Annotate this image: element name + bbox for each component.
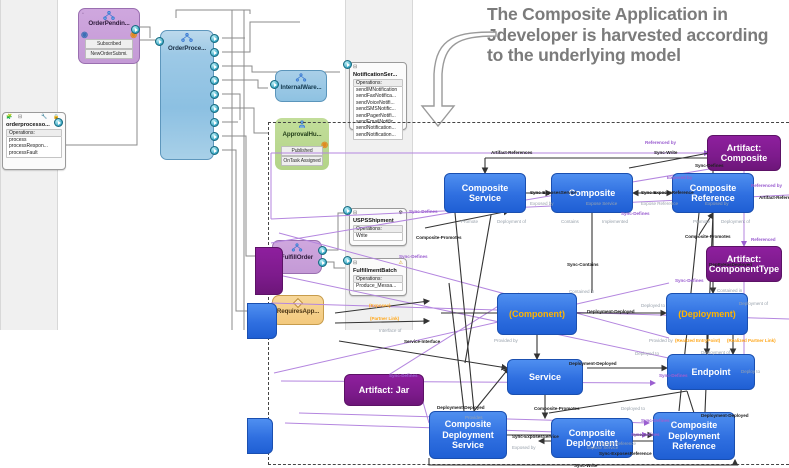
edge-label: Artifact-References xyxy=(491,150,532,155)
edge-label: Sync-Write xyxy=(654,150,677,155)
edge-label: Promote xyxy=(461,219,478,224)
operations-list: process processRespon... processFault xyxy=(6,137,62,158)
edge-label: Expose Reference xyxy=(599,441,636,446)
model-node-clipped-blue-2[interactable] xyxy=(247,418,273,454)
screenshot-root: 🧩 ⊟ 🔧 🔒 orderprocesso... Operations: pro… xyxy=(0,0,789,465)
node-label: Composite Deployment Reference xyxy=(656,420,732,452)
edge-label: Provided by xyxy=(494,338,518,343)
edge-label: Sync-Defines xyxy=(621,211,650,216)
node-internalwarehouse[interactable]: InternalWare... xyxy=(275,70,327,102)
port-op-5[interactable] xyxy=(210,90,219,99)
edge-label: Expose Service xyxy=(586,201,617,206)
node-label: Composite Service xyxy=(447,183,523,204)
port-op-7[interactable] xyxy=(210,118,219,127)
edge-label: Sync-Defines xyxy=(631,432,660,437)
node-label: Endpoint xyxy=(692,367,731,378)
port-op-3[interactable] xyxy=(210,62,219,71)
model-node-deployment[interactable]: (Deployment) xyxy=(666,293,748,335)
node-label: (Deployment) xyxy=(678,309,736,320)
wrench-icon: 🔧 xyxy=(41,114,47,120)
service-title: NotificationSer... xyxy=(350,71,406,78)
edge-label: Provides xyxy=(465,415,482,420)
edge-label: Composite-Promotes xyxy=(416,235,462,240)
edge-label: Contains xyxy=(561,219,579,224)
port-notificationservice-in[interactable] xyxy=(343,60,352,69)
badge-newordersubmitted: NewOrderSubmi. xyxy=(85,49,133,59)
sync-icon: ◉ xyxy=(81,31,88,39)
edge-label: Deployment of xyxy=(701,350,730,355)
port-orderprocessor-in[interactable] xyxy=(155,37,164,46)
node-label: InternalWare... xyxy=(281,84,322,91)
model-node-clipped-blue[interactable] xyxy=(247,303,277,339)
model-node-component[interactable]: (Component) xyxy=(497,293,577,335)
edge-label: Sync-Defines xyxy=(695,163,724,168)
operations-label: Operations: xyxy=(353,79,403,87)
node-label: Artifact: Composite xyxy=(710,143,778,164)
edge-label: Deployment-Deployed xyxy=(587,309,635,314)
edge-label: Exposed by xyxy=(512,445,536,450)
edge-label: Deployment of xyxy=(497,219,526,224)
edge-label: Sync-ExposesReference xyxy=(599,451,652,456)
node-label: Composite Deployment Service xyxy=(432,419,504,451)
node-label: (Component) xyxy=(509,309,565,320)
edge-label: Deployment of xyxy=(721,219,750,224)
edge-label: Sync-Defines xyxy=(659,373,688,378)
edge-label: (Realized EntryPoint) xyxy=(675,338,720,343)
edge-label: Contained in xyxy=(717,288,742,293)
bpel-icon xyxy=(181,33,193,42)
node-orderpending[interactable]: OrderPendin... ▫ ◉ ◉ Subscribed NewOrder… xyxy=(78,8,140,64)
edge-label: Referenced by xyxy=(751,183,782,188)
edge-label: Deployed to xyxy=(621,406,645,411)
edge-label: Sync-Defines xyxy=(399,254,428,259)
edge-label: Sync-Write xyxy=(574,463,597,468)
mediator-icon xyxy=(103,11,115,20)
page-title: The Composite Application in Jdeveloper … xyxy=(487,4,787,66)
operations-label: Operations: xyxy=(6,129,62,137)
port-op-4[interactable] xyxy=(210,76,219,85)
edge-label: Provided by xyxy=(649,338,673,343)
edge-label: Exposed by xyxy=(530,201,554,206)
edge-label: (Realized Partner Link) xyxy=(727,338,776,343)
edge-label: Promote xyxy=(693,219,710,224)
port-op-9[interactable] xyxy=(210,146,219,155)
service-icon xyxy=(296,73,307,82)
node-label: Artifact: Jar xyxy=(359,385,410,396)
collapse-icon[interactable]: ⊟ xyxy=(353,64,357,70)
edge-label: Deploy to xyxy=(741,369,760,374)
edge-label: Sync-Defines xyxy=(389,373,418,378)
edge-label: Deployment of xyxy=(739,301,768,306)
edge-label: Referenced by xyxy=(645,140,676,145)
model-node-artifact-jar[interactable]: Artifact: Jar xyxy=(344,374,424,406)
port-orderprocessor-out[interactable] xyxy=(54,118,63,127)
node-label: OrderProce... xyxy=(168,45,206,52)
port-internalwarehouse-in[interactable] xyxy=(270,80,279,89)
edge-label: Contained in xyxy=(569,289,594,294)
edge-label: Sync-ExposesService xyxy=(530,190,577,195)
edge-label: Sync-Contains xyxy=(567,262,599,267)
edge-label: Referenced xyxy=(751,237,776,242)
external-reference-card-notificationservice[interactable]: ⊟ NotificationSer... Operations: sendIMN… xyxy=(349,62,407,130)
edge-label: Sync-Defines xyxy=(409,209,438,214)
collapse-icon[interactable]: ⊟ xyxy=(18,114,22,120)
edge-label: Deployment-Deployed xyxy=(437,405,485,410)
node-label: OrderPendin... xyxy=(88,20,129,27)
port-orderpending-out[interactable] xyxy=(131,25,140,34)
node-orderprocessor[interactable]: OrderProce... xyxy=(160,30,214,160)
edge-label: Interface of xyxy=(379,328,401,333)
port-op-2[interactable] xyxy=(210,48,219,57)
operation-item: sendSMSNotific... xyxy=(356,106,400,112)
edge-label: Deployed to xyxy=(635,351,659,356)
harvest-arrow-icon xyxy=(408,30,498,130)
edge-label: Composite-Promotes xyxy=(685,234,731,239)
port-op-6[interactable] xyxy=(210,104,219,113)
edge-label: Composite-Promotes xyxy=(534,406,580,411)
edge-label: (Partner Link) xyxy=(370,316,399,321)
model-node-clipped-artifact[interactable] xyxy=(255,247,283,295)
badge-subscribed: Subscribed xyxy=(85,39,133,49)
edge-label: Expose Reference xyxy=(641,201,678,206)
edge-label: Artifact-References xyxy=(759,195,789,200)
model-node-composite-service[interactable]: Composite Service xyxy=(444,173,526,213)
harvested-model-diagram: Composite Service Composite Composite Re… xyxy=(268,122,789,465)
component-icon: 🧩 xyxy=(6,114,12,120)
edge-label: DepByHasDeployed xyxy=(709,262,752,267)
edge-label: Deployment-Deployed xyxy=(569,361,617,366)
operation-item: processFault xyxy=(9,150,59,156)
edge-label: Sync-Defines xyxy=(641,418,670,423)
edge-label: Exposed by xyxy=(667,175,692,180)
edge-label: Deployed to xyxy=(641,303,665,308)
edge-label: Exposed by xyxy=(705,201,729,206)
node-label: Service xyxy=(529,372,561,383)
edge-label: (Exposes) xyxy=(369,303,391,308)
port-op-1[interactable] xyxy=(210,34,219,43)
edge-label: Sync-Defines xyxy=(675,278,704,283)
operation-item: sendFaxNotifica... xyxy=(356,93,400,99)
port-op-8[interactable] xyxy=(210,132,219,141)
minimize-icon[interactable]: ▫ xyxy=(82,12,84,17)
edge-label: Sync-ExposesReference xyxy=(641,190,694,195)
edge-label: Sync-ExposesService xyxy=(512,434,559,439)
edge-label: Deployment-Deployed xyxy=(701,413,749,418)
edge-label: Implemented xyxy=(602,219,628,224)
edge-label: Service-Interface xyxy=(404,339,440,344)
